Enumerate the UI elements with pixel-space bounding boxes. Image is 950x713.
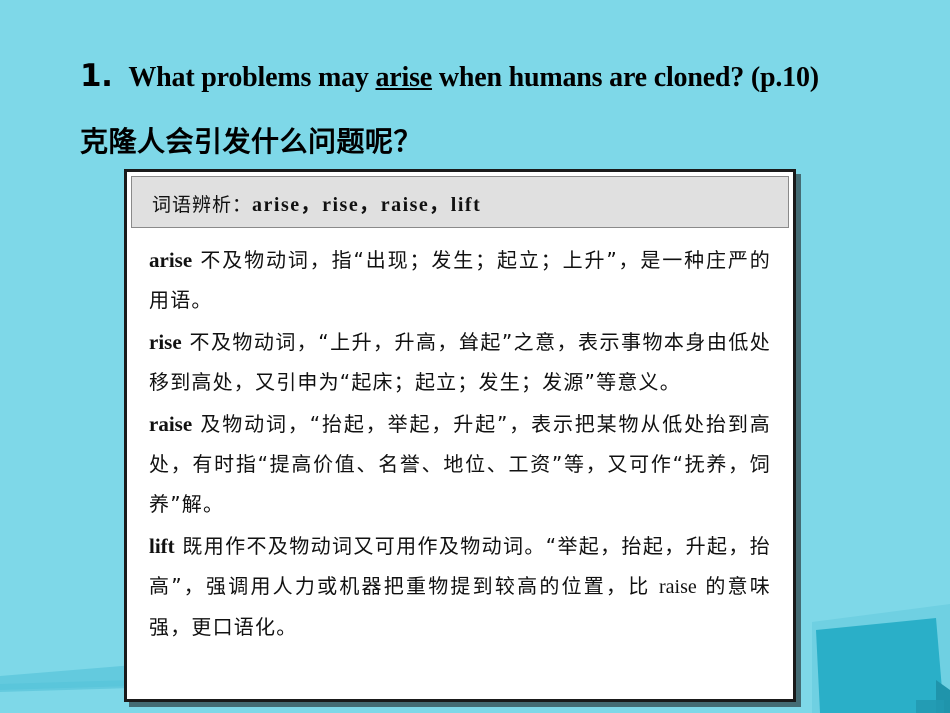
word-entry-definition-inline-word: raise — [659, 576, 697, 598]
word-entry-arise: arise 不及物动词，指“出现；发生；起立；上升”，是一种庄严的用语。 — [149, 240, 771, 320]
word-entry-definition: 及物动词，“抬起，举起，升起”，表示把某物从低处抬到高处，有时指“提高价值、名誉… — [149, 412, 771, 516]
header-separator: ： — [232, 194, 252, 216]
word-entry-keyword: arise — [149, 248, 192, 272]
word-entry-keyword: lift — [149, 534, 175, 558]
bottom-right-fold-shape — [936, 680, 950, 713]
question-keyword-underlined: arise — [375, 62, 432, 93]
word-entry-keyword: rise — [149, 330, 182, 354]
question-line-english: 1. What problems may arise when humans a… — [0, 58, 950, 94]
word-entry-raise: raise 及物动词，“抬起，举起，升起”，表示把某物从低处抬到高处，有时指“提… — [149, 404, 771, 524]
word-comparison-header-text: 词语辨析：arise，rise，raise，lift — [152, 188, 481, 217]
header-word-list: arise，rise，raise，lift — [252, 194, 481, 216]
word-entry-lift: lift 既用作不及物动词又可用作及物动词。“举起，抬起，升起，抬高”，强调用人… — [149, 526, 771, 647]
word-entry-keyword: raise — [149, 412, 192, 436]
slide-heading: 1. What problems may arise when humans a… — [0, 58, 950, 160]
word-entry-definition: 不及物动词，指“出现；发生；起立；上升”，是一种庄严的用语。 — [149, 248, 771, 312]
question-text-english: What problems may arise when humans are … — [128, 62, 819, 94]
bottom-right-backing-shape — [812, 604, 950, 713]
question-text-before: What problems may — [128, 62, 375, 93]
word-entry-rise: rise 不及物动词，“上升，升高，耸起”之意，表示事物本身由低处移到高处，又引… — [149, 322, 771, 402]
word-comparison-box: 词语辨析：arise，rise，raise，lift arise 不及物动词，指… — [124, 169, 796, 702]
bottom-right-accent-shape — [816, 618, 944, 713]
word-comparison-body: arise 不及物动词，指“出现；发生；起立；上升”，是一种庄严的用语。 ris… — [131, 228, 789, 647]
question-text-chinese: 克隆人会引发什么问题呢？ — [0, 120, 950, 160]
bottom-right-fold-shadow — [916, 700, 944, 713]
question-number: 1. — [80, 58, 112, 94]
word-comparison-header: 词语辨析：arise，rise，raise，lift — [131, 176, 789, 228]
header-label-chinese: 词语辨析 — [152, 194, 232, 216]
question-text-after: when humans are cloned? (p.10) — [432, 62, 819, 93]
word-comparison-panel: 词语辨析：arise，rise，raise，lift arise 不及物动词，指… — [124, 169, 796, 702]
word-entry-definition: 不及物动词，“上升，升高，耸起”之意，表示事物本身由低处移到高处，又引申为“起床… — [149, 330, 771, 394]
